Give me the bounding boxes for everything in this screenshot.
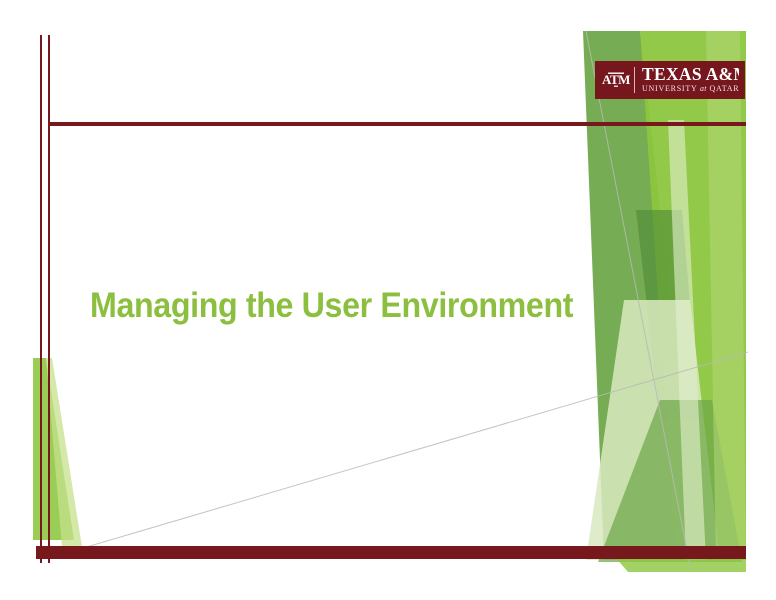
logo-wordmark-secondary: UNIVERSITY at QATAR — [642, 84, 739, 94]
texas-am-qatar-logo: ATM TEXAS A&M UNIVERSITY at QATAR — [595, 61, 745, 99]
slide-root: ATM TEXAS A&M UNIVERSITY at QATAR Managi… — [0, 0, 776, 600]
logo-divider — [634, 67, 635, 93]
svg-text:ATM: ATM — [602, 72, 630, 87]
vertical-rule-left-inner — [48, 35, 50, 563]
logo-wordmark-university: UNIVERSITY — [642, 84, 697, 93]
logo-wordmark-qatar: QATAR — [710, 84, 739, 93]
logo-wordmark-at: at — [700, 84, 707, 93]
texas-am-seal-icon: ATM — [601, 65, 631, 95]
logo-wordmark: TEXAS A&M UNIVERSITY at QATAR — [642, 66, 739, 95]
vertical-rule-left-outer — [40, 35, 42, 563]
logo-wordmark-primary: TEXAS A&M — [642, 66, 739, 84]
horizontal-rule-top — [48, 122, 746, 126]
slide-title: Managing the User Environment — [90, 287, 550, 326]
horizontal-rule-bottom — [36, 546, 746, 559]
